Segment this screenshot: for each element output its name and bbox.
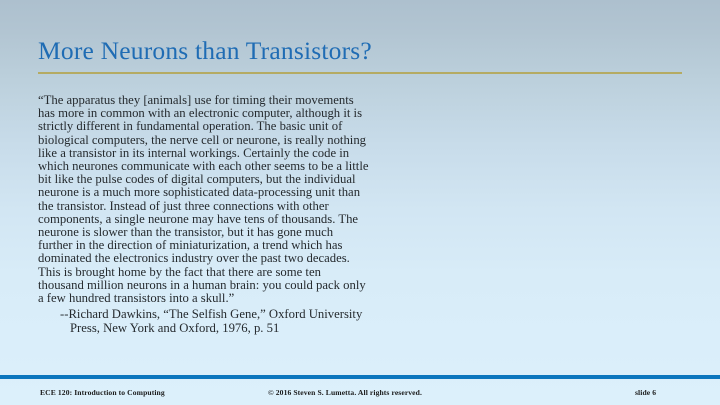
quote-line: biological computers, the nerve cell or …: [38, 134, 498, 147]
slide: More Neurons than Transistors? “The appa…: [0, 0, 720, 405]
page-title: More Neurons than Transistors?: [38, 36, 688, 66]
title-divider: [38, 72, 682, 74]
footer-copyright: © 2016 Steven S. Lumetta. All rights res…: [268, 388, 422, 397]
footer-slide-number: slide 6: [635, 388, 656, 397]
attribution-line: Press, New York and Oxford, 1976, p. 51: [60, 322, 500, 336]
footer: ECE 120: Introduction to Computing © 201…: [0, 379, 720, 405]
quote-line: neurone is a much more sophisticated dat…: [38, 186, 498, 199]
quote-block: “The apparatus they [animals] use for ti…: [38, 94, 498, 305]
attribution-line: --Richard Dawkins, “The Selfish Gene,” O…: [60, 308, 500, 322]
quote-line: the transistor. Instead of just three co…: [38, 200, 498, 213]
quote-line: a few hundred transistors into a skull.”: [38, 292, 498, 305]
quote-line: This is brought home by the fact that th…: [38, 266, 498, 279]
quote-line: strictly different in fundamental operat…: [38, 120, 498, 133]
footer-course-name: ECE 120: Introduction to Computing: [40, 388, 165, 397]
attribution-block: --Richard Dawkins, “The Selfish Gene,” O…: [60, 308, 500, 335]
quote-line: dominated the electronics industry over …: [38, 252, 498, 265]
